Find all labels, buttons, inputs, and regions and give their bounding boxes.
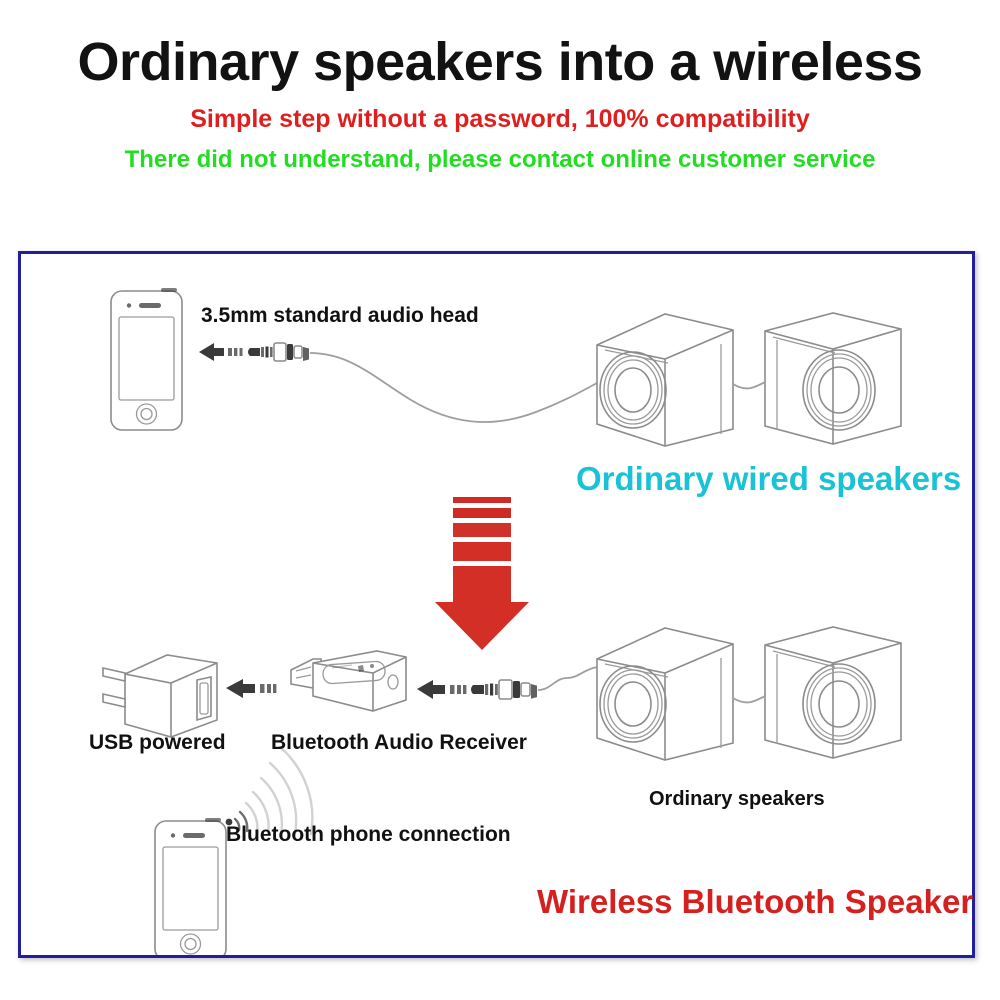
subtitle-red: Simple step without a password, 100% com… <box>0 105 1000 134</box>
bottom-speaker-link-cable-icon <box>733 696 765 702</box>
label-bluetooth-audio-receiver: Bluetooth Audio Receiver <box>271 731 527 755</box>
bottom-speaker-right-icon <box>765 627 901 758</box>
header: Ordinary speakers into a wireless Simple… <box>0 0 1000 174</box>
top-speaker-left-icon <box>597 314 733 446</box>
top-audio-cable-icon <box>310 353 621 422</box>
bluetooth-usb-dongle-icon <box>291 651 406 711</box>
label-wireless-bluetooth-speaker: Wireless Bluetooth Speaker <box>537 883 973 921</box>
page-title: Ordinary speakers into a wireless <box>0 34 1000 91</box>
bottom-phone-icon <box>155 818 226 955</box>
diagram-artwork: .ln { fill:none; stroke:#8c8c8c; stroke-… <box>21 254 972 955</box>
down-arrow-icon <box>435 497 529 650</box>
wireless-signal-waves-icon <box>226 747 313 834</box>
subtitle-green: There did not understand, please contact… <box>0 146 1000 174</box>
bottom-left-arrow-plug-icon <box>417 680 466 699</box>
label-ordinary-wired-speakers: Ordinary wired speakers <box>576 460 961 498</box>
label-usb-powered: USB powered <box>89 731 226 755</box>
bottom-audio-plug-icon <box>471 680 537 699</box>
label-ordinary-speakers: Ordinary speakers <box>649 788 825 811</box>
bottom-speaker-left-icon <box>597 628 733 760</box>
label-3.5mm-audio-head: 3.5mm standard audio head <box>201 304 479 328</box>
top-speaker-link-cable-icon <box>733 382 765 388</box>
top-phone-icon <box>111 288 182 430</box>
bottom-left-arrow-usb-icon <box>226 679 276 698</box>
top-speaker-right-icon <box>765 313 901 444</box>
top-left-arrow-icon <box>199 343 243 361</box>
usb-power-adapter-icon <box>103 655 217 737</box>
top-audio-plug-icon <box>248 343 309 361</box>
diagram-frame: .ln { fill:none; stroke:#8c8c8c; stroke-… <box>18 251 975 958</box>
poster-page: Ordinary speakers into a wireless Simple… <box>0 0 1000 1000</box>
label-bluetooth-phone-connection: Bluetooth phone connection <box>226 823 511 847</box>
